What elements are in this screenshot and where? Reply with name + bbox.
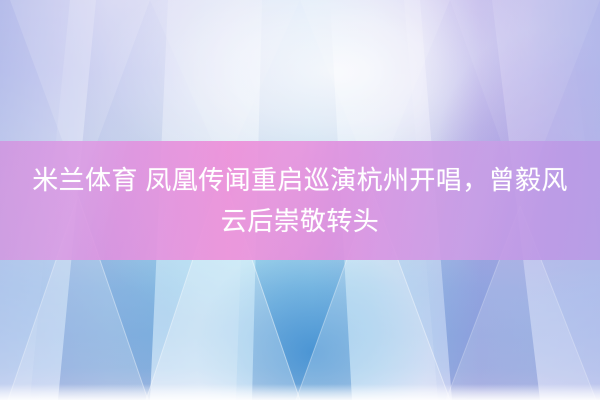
caption-band: 米兰体育 凤凰传闻重启巡演杭州开唱，曾毅风 云后崇敬转头 <box>0 141 600 260</box>
bottom-fade-strip <box>0 384 600 400</box>
promo-banner: 米兰体育 凤凰传闻重启巡演杭州开唱，曾毅风 云后崇敬转头 <box>0 0 600 400</box>
banner-caption-text: 米兰体育 凤凰传闻重启巡演杭州开唱，曾毅风 云后崇敬转头 <box>20 160 580 242</box>
